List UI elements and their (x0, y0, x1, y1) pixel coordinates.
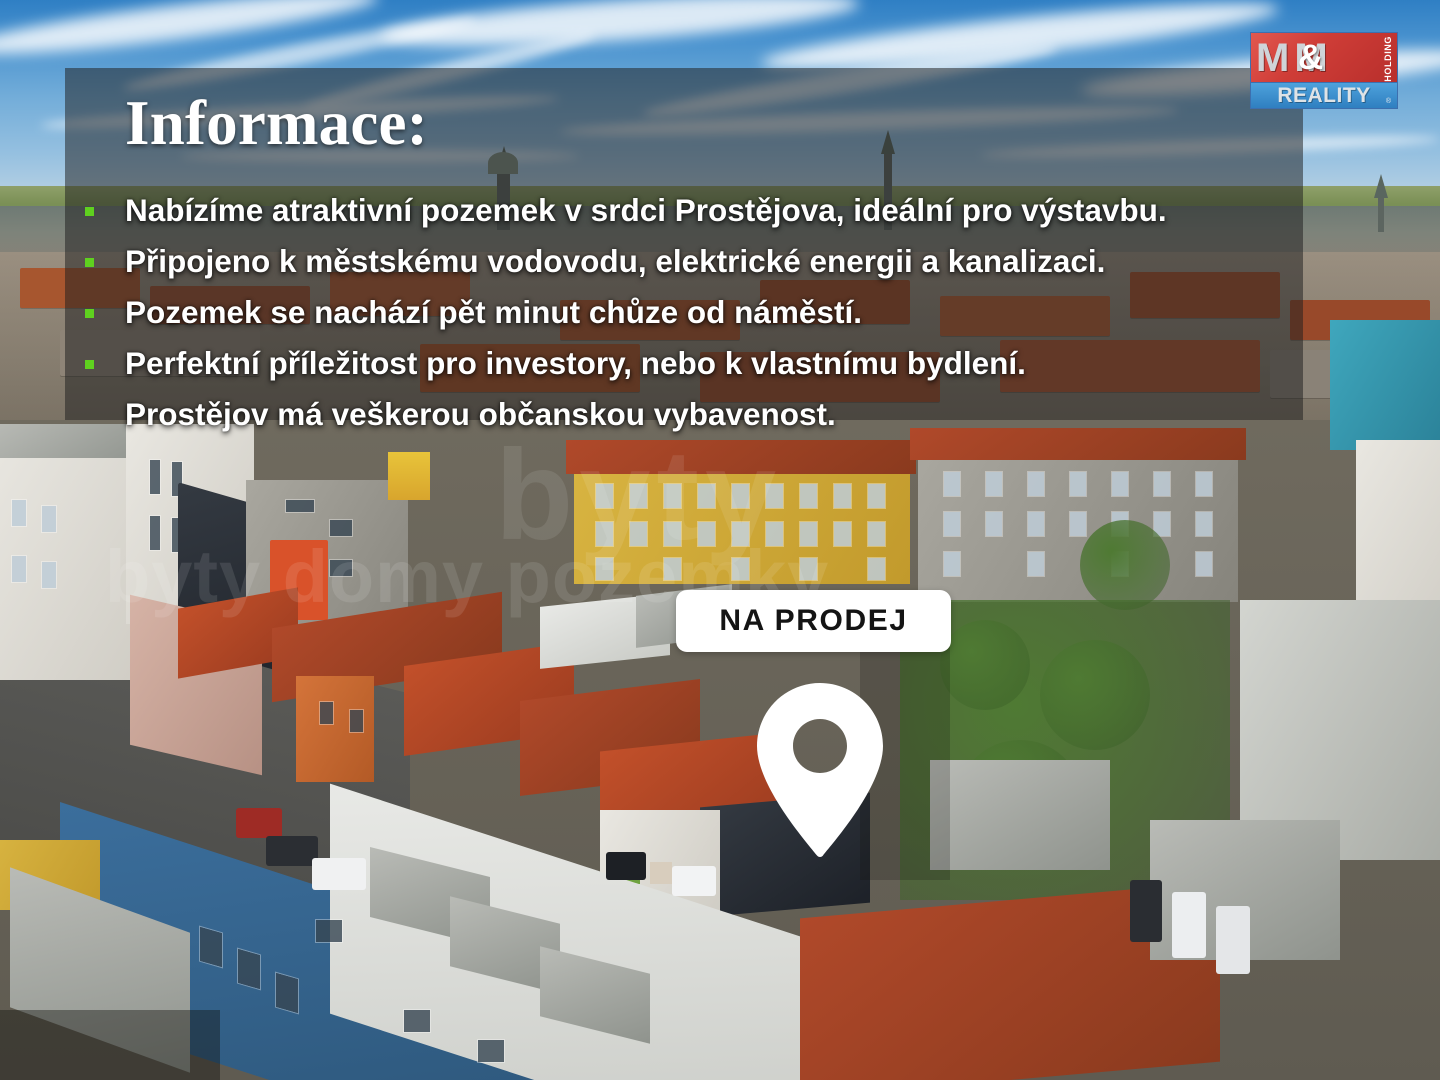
logo-top-block: M M & HOLDING (1250, 32, 1398, 83)
window (150, 516, 160, 550)
skylight (200, 927, 222, 967)
list-item-text: Perfektní příležitost pro investory, neb… (125, 345, 1026, 381)
skylight (238, 949, 260, 989)
mm-reality-logo[interactable]: M M & HOLDING REALITY ® (1250, 32, 1398, 109)
radio-mast (1378, 196, 1384, 232)
window (664, 522, 681, 546)
tree (1080, 520, 1170, 610)
bullet-marker (85, 207, 94, 216)
window (650, 862, 672, 884)
window (732, 522, 749, 546)
window (330, 560, 352, 576)
window (986, 472, 1002, 496)
parked-car (606, 852, 646, 880)
window (596, 558, 613, 580)
parked-car (266, 836, 318, 866)
roof (930, 760, 1110, 870)
parked-van (1216, 906, 1250, 974)
location-pin-icon (757, 683, 883, 858)
parked-car (312, 858, 366, 890)
marketing-image: byty byty domy pozemky Informace: Nabízí… (0, 0, 1440, 1080)
list-item-text: Prostějov má veškerou občanskou vybaveno… (125, 396, 836, 432)
list-item: Pozemek se nachází pět minut chůze od ná… (85, 288, 1295, 337)
list-item: Prostějov má veškerou občanskou vybaveno… (85, 390, 1295, 439)
window (150, 460, 160, 494)
window (664, 484, 681, 508)
window (834, 484, 851, 508)
parked-car (672, 866, 716, 896)
list-item: Připojeno k městskému vodovodu, elektric… (85, 237, 1295, 286)
skylight (478, 1040, 504, 1062)
window (12, 500, 26, 526)
logo-holding-label: HOLDING (1381, 36, 1394, 81)
skylight (276, 973, 298, 1013)
window (1028, 552, 1044, 576)
window (1070, 512, 1086, 536)
window (42, 506, 56, 532)
window (868, 522, 885, 546)
window (698, 484, 715, 508)
window (1028, 472, 1044, 496)
window (698, 522, 715, 546)
info-bullet-list: Nabízíme atraktivní pozemek v srdci Pros… (85, 186, 1295, 441)
window (286, 500, 314, 512)
window (320, 702, 333, 724)
bullet-marker (85, 258, 94, 267)
registered-mark: ® (1386, 98, 1391, 105)
window (630, 484, 647, 508)
window (732, 484, 749, 508)
window (944, 552, 960, 576)
window (800, 558, 817, 580)
bullet-marker (85, 309, 94, 318)
window (766, 484, 783, 508)
window (42, 562, 56, 588)
window (868, 558, 885, 580)
window (664, 558, 681, 580)
window (1070, 472, 1086, 496)
skylight (404, 1010, 430, 1032)
bullet-marker (85, 360, 94, 369)
window (766, 522, 783, 546)
window (350, 710, 363, 732)
window (834, 522, 851, 546)
shadow (0, 1010, 220, 1080)
window (986, 512, 1002, 536)
window (800, 484, 817, 508)
window (1196, 472, 1212, 496)
window (12, 556, 26, 582)
window (944, 512, 960, 536)
logo-bottom-block: REALITY ® (1250, 83, 1398, 109)
skylight (316, 920, 342, 942)
window (732, 558, 749, 580)
window (1196, 552, 1212, 576)
parked-car (236, 808, 282, 838)
page-title: Informace: (125, 92, 428, 155)
parked-car (1130, 880, 1162, 942)
list-item-text: Pozemek se nachází pět minut chůze od ná… (125, 294, 862, 330)
window (1196, 512, 1212, 536)
window (330, 520, 352, 536)
list-item-text: Nabízíme atraktivní pozemek v srdci Pros… (125, 192, 1167, 228)
list-item: Nabízíme atraktivní pozemek v srdci Pros… (85, 186, 1295, 235)
window (800, 522, 817, 546)
window (630, 522, 647, 546)
window (1112, 472, 1128, 496)
window (944, 472, 960, 496)
list-item-text: Připojeno k městskému vodovodu, elektric… (125, 243, 1105, 279)
logo-ampersand: & (1298, 40, 1323, 75)
parked-van (1172, 892, 1206, 958)
window (1154, 472, 1170, 496)
window (596, 522, 613, 546)
billboard (388, 452, 430, 500)
window (1028, 512, 1044, 536)
tree (940, 620, 1030, 710)
list-item: Perfektní příležitost pro investory, neb… (85, 339, 1295, 388)
window (868, 484, 885, 508)
status-badge-label: NA PRODEJ (719, 606, 907, 636)
roof (566, 440, 916, 474)
tree (1040, 640, 1150, 750)
logo-reality-text: REALITY (1277, 85, 1370, 106)
teal-building (1330, 320, 1440, 450)
status-badge[interactable]: NA PRODEJ (676, 590, 951, 652)
window (596, 484, 613, 508)
